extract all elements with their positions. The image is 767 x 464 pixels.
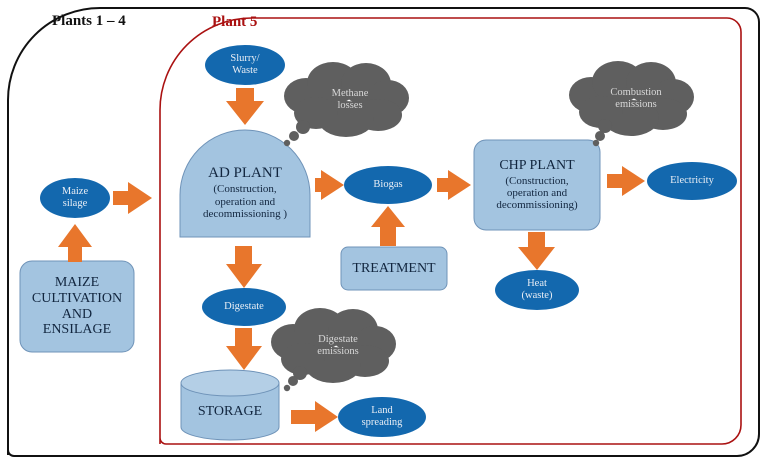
node-chp-plant[interactable]: CHP PLANT (Construction, operation and d…: [474, 140, 600, 230]
methane-losses-label: Methane losses: [332, 88, 369, 112]
node-methane-losses[interactable]: Methane losses: [305, 80, 395, 120]
chp-plant-sublabel: (Construction, operation and decommissio…: [496, 175, 577, 212]
node-heat-waste[interactable]: Heat (waste): [495, 270, 579, 310]
diagram-canvas: Plants 1 – 4 Plant 5 Maize silage MAIZE …: [0, 0, 767, 464]
arrow-biogas-to-chp: [437, 170, 471, 200]
combustion-emissions-label: Combustion emissions: [610, 87, 661, 111]
slurry-waste-label: Slurry/ Waste: [230, 53, 259, 77]
node-combustion-emissions[interactable]: Combustion emissions: [588, 79, 684, 119]
node-biogas[interactable]: Biogas: [344, 166, 432, 204]
node-maize-silage[interactable]: Maize silage: [40, 178, 110, 218]
ad-plant-label: AD PLANT: [208, 165, 282, 182]
frame-label-plants-1-4: Plants 1 – 4: [52, 13, 126, 30]
treatment-label: TREATMENT: [352, 261, 435, 277]
arrow-digestate-to-storage: [226, 328, 262, 370]
node-maize-cultivation[interactable]: MAIZE CULTIVATION AND ENSILAGE: [20, 261, 134, 352]
node-ad-plant[interactable]: AD PLANT (Construction, operation and de…: [180, 148, 310, 237]
arrow-storage-to-land-spreading: [291, 401, 338, 432]
digestate-label: Digestate: [224, 301, 264, 313]
arrow-treatment-to-biogas: [371, 206, 405, 246]
frame-label-plant-5: Plant 5: [212, 14, 257, 31]
electricity-label: Electricity: [670, 175, 714, 187]
node-land-spreading[interactable]: Land spreading: [338, 397, 426, 437]
biogas-label: Biogas: [373, 179, 402, 191]
digestate-emissions-label: Digestate emissions: [317, 334, 358, 358]
arrow-ad-plant-to-digestate: [226, 246, 262, 288]
arrow-chp-to-electricity: [607, 166, 645, 196]
node-treatment[interactable]: TREATMENT: [341, 247, 447, 290]
node-storage[interactable]: STORAGE: [181, 390, 279, 434]
diagram-shapes-layer: [0, 0, 767, 464]
arrow-silage-to-ad-plant: [113, 182, 152, 214]
node-digestate[interactable]: Digestate: [202, 288, 286, 326]
node-digestate-emissions[interactable]: Digestate emissions: [292, 326, 384, 366]
land-spreading-label: Land spreading: [362, 405, 403, 429]
arrow-cultivation-to-silage: [58, 224, 92, 262]
arrow-chp-to-heat: [518, 232, 555, 270]
arrow-ad-plant-to-biogas: [315, 170, 344, 200]
ad-plant-sublabel: (Construction, operation and decommissio…: [203, 183, 287, 220]
node-slurry-waste[interactable]: Slurry/ Waste: [205, 45, 285, 85]
arrow-slurry-to-ad-plant: [226, 88, 264, 125]
chp-plant-label: CHP PLANT: [499, 158, 574, 174]
storage-label: STORAGE: [198, 404, 262, 420]
maize-cultivation-label: MAIZE CULTIVATION AND ENSILAGE: [32, 275, 122, 338]
node-electricity[interactable]: Electricity: [647, 162, 737, 200]
heat-waste-label: Heat (waste): [522, 278, 553, 302]
maize-silage-label: Maize silage: [62, 186, 88, 210]
